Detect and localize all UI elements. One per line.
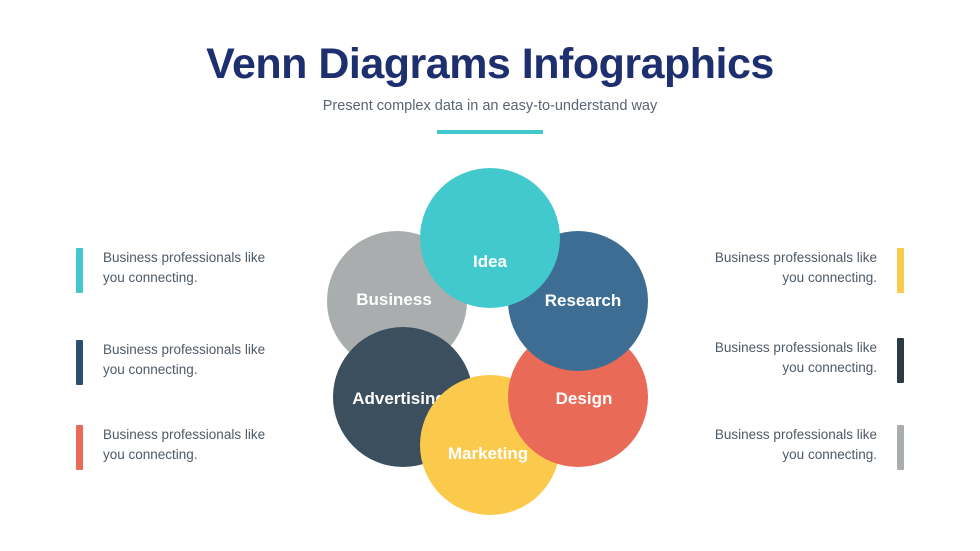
note-left-2: Business professionals like you connecti… [76, 340, 283, 385]
venn-label-marketing: Marketing [448, 444, 528, 464]
note-right-3-text: Business professionals like you connecti… [697, 425, 877, 464]
venn-label-idea: Idea [473, 252, 507, 272]
venn-circle-idea[interactable]: Idea [420, 168, 560, 308]
note-left-3-text: Business professionals like you connecti… [103, 425, 283, 464]
venn-label-business: Business [356, 290, 432, 310]
note-left-1-bar [76, 248, 83, 293]
note-right-1-text: Business professionals like you connecti… [697, 248, 877, 287]
note-left-3: Business professionals like you connecti… [76, 425, 283, 470]
note-right-3: Business professionals like you connecti… [697, 425, 904, 470]
note-right-2: Business professionals like you connecti… [697, 338, 904, 383]
note-left-1: Business professionals like you connecti… [76, 248, 283, 293]
note-left-1-text: Business professionals like you connecti… [103, 248, 283, 287]
page-subtitle: Present complex data in an easy-to-under… [0, 98, 980, 114]
note-left-3-bar [76, 425, 83, 470]
title-underline-rule [437, 130, 543, 134]
note-right-2-bar [897, 338, 904, 383]
note-left-2-text: Business professionals like you connecti… [103, 340, 283, 379]
venn-label-research: Research [545, 291, 622, 311]
venn-diagram: Business Advertising Marketing Design Re… [315, 160, 665, 510]
note-right-1: Business professionals like you connecti… [697, 248, 904, 293]
note-right-2-text: Business professionals like you connecti… [697, 338, 877, 377]
slide-canvas: Venn Diagrams Infographics Present compl… [0, 0, 980, 551]
page-title: Venn Diagrams Infographics [0, 40, 980, 89]
venn-label-design: Design [556, 389, 613, 409]
note-left-2-bar [76, 340, 83, 385]
note-right-1-bar [897, 248, 904, 293]
note-right-3-bar [897, 425, 904, 470]
